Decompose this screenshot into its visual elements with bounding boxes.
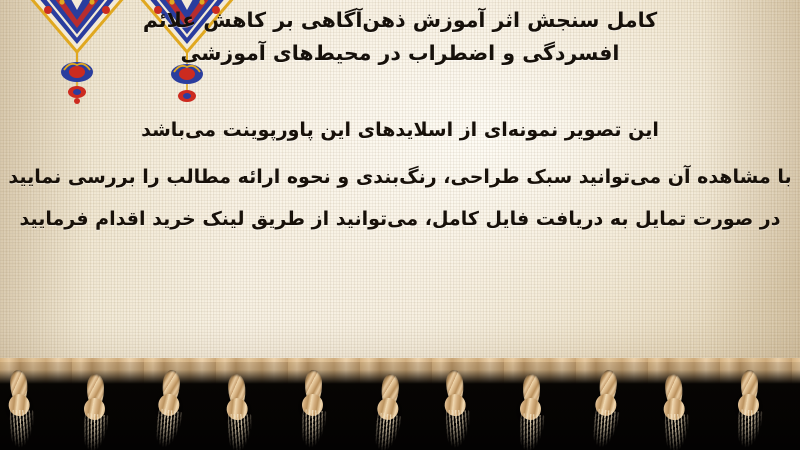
slide-canvas: کامل سنجش اثر آموزش ذهن‌آگاهی بر کاهش عل… xyxy=(0,0,800,450)
fringe-threads xyxy=(663,414,688,450)
fringe-threads xyxy=(153,408,183,450)
fringe-tassel xyxy=(589,365,625,450)
fringe-threads xyxy=(445,410,470,449)
fringe-tassel xyxy=(299,366,329,450)
fringe-tassel xyxy=(517,370,547,450)
slide-body: این تصویر نمونه‌ای از اسلایدهای این پاور… xyxy=(0,110,800,240)
fringe-tassel xyxy=(371,369,407,450)
title-line-2: افسردگی و اضطراب در محیط‌های آموزشی xyxy=(0,37,800,70)
body-line-2: با مشاهده آن می‌توانید سبک طراحی، رنگ‌بن… xyxy=(0,156,800,198)
body-line-1: این تصویر نمونه‌ای از اسلایدهای این پاور… xyxy=(0,110,800,156)
fringe-tassel xyxy=(152,365,188,450)
fringe-threads xyxy=(81,413,109,450)
fringe-threads xyxy=(227,414,252,450)
fringe-tassel xyxy=(735,366,765,450)
fringe-threads xyxy=(299,409,327,449)
slide-title: کامل سنجش اثر آموزش ذهن‌آگاهی بر کاهش عل… xyxy=(0,4,800,70)
fringe-tassel xyxy=(657,369,693,450)
fringe-threads xyxy=(735,409,763,449)
body-line-3: در صورت تمایل به دریافت فایل کامل، می‌تو… xyxy=(0,198,800,240)
fringe-threads xyxy=(589,408,619,450)
title-line-1: کامل سنجش اثر آموزش ذهن‌آگاهی بر کاهش عل… xyxy=(0,4,800,37)
fringe-tassel xyxy=(3,365,39,450)
fringe-tassel xyxy=(81,370,111,450)
fringe-threads xyxy=(371,412,401,450)
fringe-threads xyxy=(517,413,545,450)
fringe-threads xyxy=(9,410,34,449)
fringe-tassel xyxy=(221,369,257,450)
